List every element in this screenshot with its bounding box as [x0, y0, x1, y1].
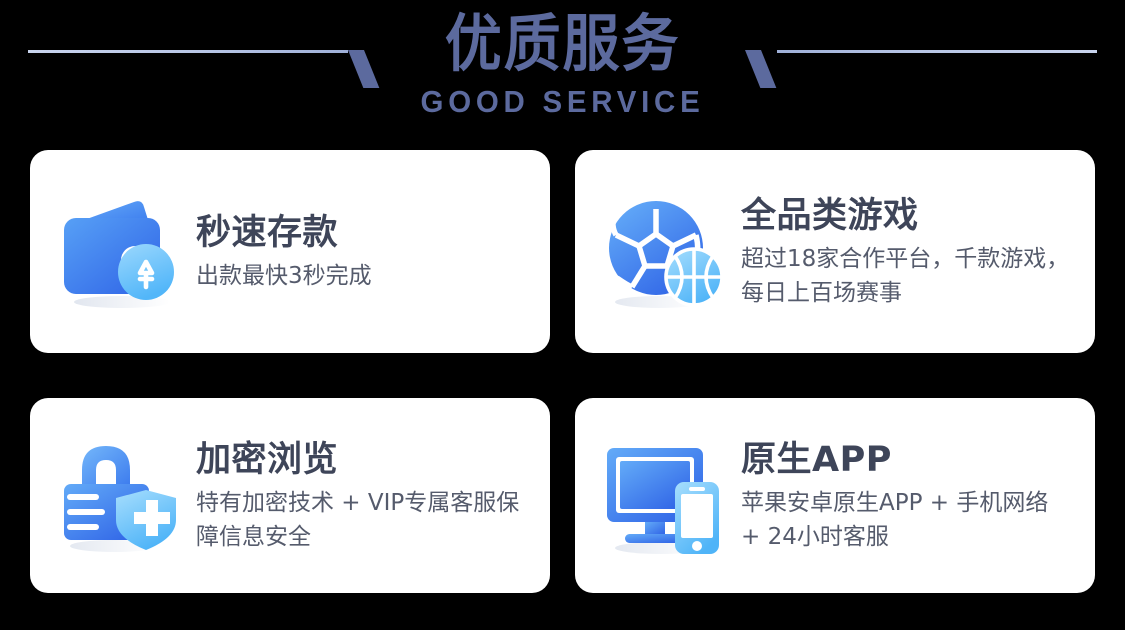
feature-card-title: 加密浏览: [196, 438, 540, 482]
feature-card-grid: 秒速存款 出款最快3秒完成: [30, 150, 1095, 593]
banner-header: 优质服务 GOOD SERVICE: [0, 0, 1125, 148]
feature-card-encryption[interactable]: 加密浏览 特有加密技术 + VIP专属客服保障信息安全: [30, 398, 550, 593]
good-service-banner: 优质服务 GOOD SERVICE: [0, 0, 1125, 630]
page-subtitle: GOOD SERVICE: [28, 84, 1097, 120]
page-title: 优质服务: [45, 6, 1080, 82]
feature-card-native-app[interactable]: 原生APP 苹果安卓原生APP + 手机网络 + 24小时客服: [575, 398, 1095, 593]
lock-shield-icon: [56, 434, 186, 558]
feature-card-title: 秒速存款: [196, 211, 540, 255]
feature-card-title: 原生APP: [741, 438, 1085, 482]
feature-card-games[interactable]: 全品类游戏 超过18家合作平台，千款游戏，每日上百场赛事: [575, 150, 1095, 353]
feature-card-text: 加密浏览 特有加密技术 + VIP专属客服保障信息安全: [196, 438, 540, 554]
feature-card-text: 原生APP 苹果安卓原生APP + 手机网络 + 24小时客服: [741, 438, 1085, 554]
soccer-basketball-icon: [601, 190, 731, 314]
feature-card-desc: 特有加密技术 + VIP专属客服保障信息安全: [196, 486, 526, 554]
header-title-block: 优质服务 GOOD SERVICE: [0, 6, 1125, 120]
feature-card-title: 全品类游戏: [741, 194, 1085, 238]
feature-card-deposit[interactable]: 秒速存款 出款最快3秒完成: [30, 150, 550, 353]
feature-card-desc: 苹果安卓原生APP + 手机网络 + 24小时客服: [741, 486, 1071, 554]
monitor-phone-icon: [601, 434, 731, 558]
feature-card-text: 全品类游戏 超过18家合作平台，千款游戏，每日上百场赛事: [741, 194, 1085, 310]
feature-card-text: 秒速存款 出款最快3秒完成: [196, 211, 540, 293]
feature-card-desc: 出款最快3秒完成: [196, 259, 536, 293]
wallet-yen-icon: [56, 190, 186, 314]
feature-card-desc: 超过18家合作平台，千款游戏，每日上百场赛事: [741, 242, 1071, 310]
